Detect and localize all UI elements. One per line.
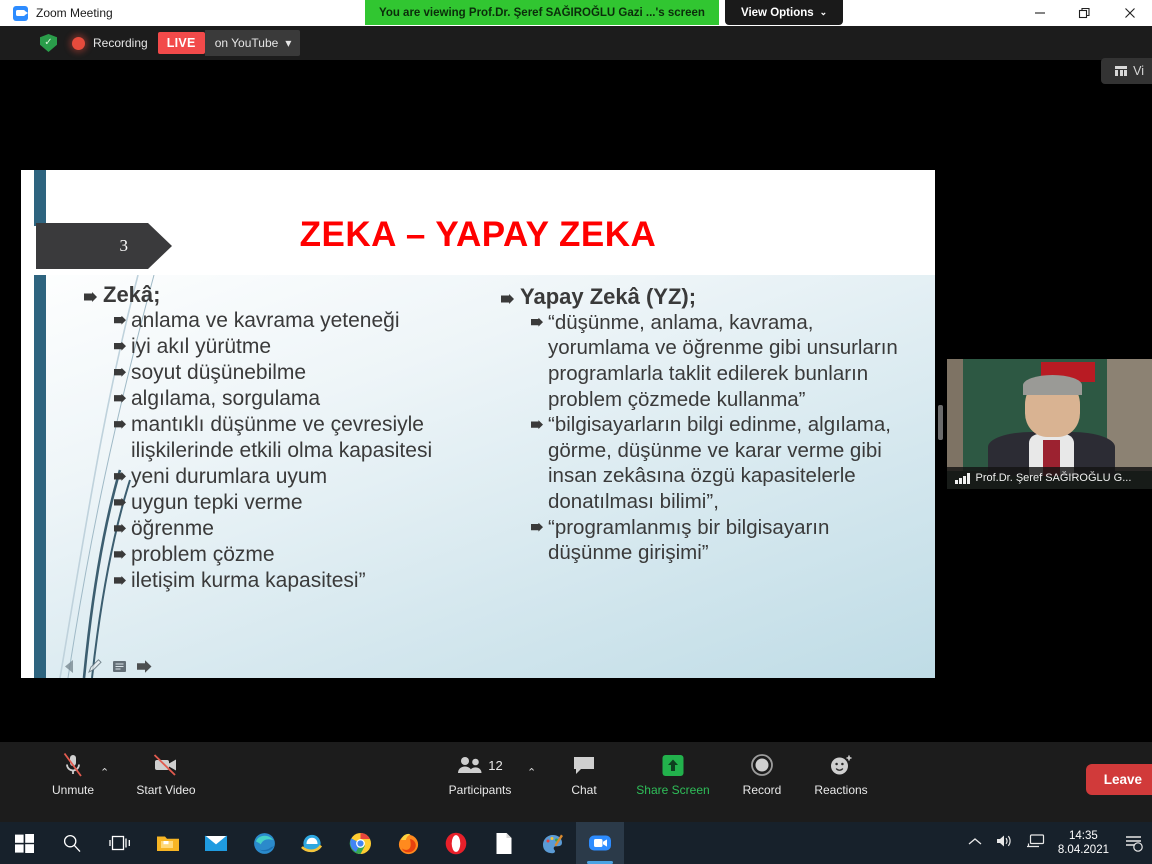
close-icon[interactable]: [1107, 0, 1152, 26]
participants-icon-group: 12: [457, 752, 502, 778]
chrome-button[interactable]: [336, 822, 384, 864]
list-item-text: “düşünme, anlama, kavrama, yorumlama ve …: [548, 310, 916, 413]
list-item: anlama ve kavrama yeteneği: [114, 308, 484, 334]
task-view-icon: [109, 834, 131, 852]
microphone-muted-icon: [61, 752, 85, 778]
recording-status-bar: ✓ Recording LIVE on YouTube ▾ Vi: [0, 26, 1152, 60]
task-view-button[interactable]: [96, 822, 144, 864]
document-icon: [495, 832, 513, 855]
participant-name: Prof.Dr. Şeref SAĞIROĞLU G...: [976, 472, 1132, 484]
slide-title: ZEKA – YAPAY ZEKA: [21, 215, 935, 255]
list-item: algılama, sorgulama: [114, 386, 484, 412]
right-column-heading: Yapay Zekâ (YZ);: [501, 285, 916, 310]
firefox-button[interactable]: [384, 822, 432, 864]
record-label: Record: [743, 783, 782, 797]
stream-platform-label: on YouTube: [215, 36, 279, 50]
chat-button[interactable]: Chat: [547, 752, 621, 797]
list-item: yeni durumlara uyum: [114, 464, 484, 490]
windows-taskbar: 14:35 8.04.2021: [0, 822, 1152, 864]
share-screen-icon: [661, 752, 685, 778]
search-icon: [62, 833, 82, 853]
slide-columns: Zekâ; anlama ve kavrama yeteneği iyi akı…: [46, 275, 935, 678]
list-item-text: öğrenme: [131, 516, 214, 542]
list-item: soyut düşünebilme: [114, 360, 484, 386]
list-item-text: iletişim kurma kapasitesi”: [131, 568, 366, 594]
arrow-bullet-icon: [114, 498, 126, 507]
slide-accent-bar-bottom: [34, 275, 46, 678]
stream-platform-dropdown[interactable]: on YouTube ▾: [205, 30, 301, 56]
list-item: problem çözme: [114, 542, 484, 568]
reactions-label: Reactions: [814, 783, 867, 797]
volume-icon[interactable]: [995, 833, 1013, 854]
next-slide-icon[interactable]: [135, 657, 153, 675]
arrow-bullet-icon: [501, 294, 514, 304]
participant-video-thumbnail[interactable]: Prof.Dr. Şeref SAĞIROĞLU G...: [947, 359, 1152, 489]
live-badge: LIVE: [158, 32, 205, 54]
participants-icon: [457, 756, 483, 774]
slide-right-column: Yapay Zekâ (YZ); “düşünme, anlama, kavra…: [501, 285, 916, 566]
list-item-text: “programlanmış bir bilgisayarın düşünme …: [548, 515, 916, 566]
document-button[interactable]: [480, 822, 528, 864]
participants-count: 12: [488, 758, 502, 773]
share-screen-button[interactable]: Share Screen: [634, 752, 712, 797]
participant-name-bar: Prof.Dr. Şeref SAĞIROĞLU G...: [947, 467, 1152, 489]
view-layout-button[interactable]: Vi: [1101, 58, 1152, 84]
arrow-bullet-icon: [114, 524, 126, 533]
unmute-label: Unmute: [52, 783, 94, 797]
clock-time: 14:35: [1058, 829, 1109, 843]
system-tray: 14:35 8.04.2021: [968, 829, 1152, 858]
zoom-app-icon: [588, 832, 612, 854]
arrow-bullet-icon: [114, 550, 126, 559]
arrow-bullet-icon: [114, 420, 126, 429]
window-controls: [1017, 0, 1152, 26]
clock-date: 8.04.2021: [1058, 843, 1109, 857]
list-item: “düşünme, anlama, kavrama, yorumlama ve …: [531, 310, 916, 413]
chevron-down-icon: ⌄: [820, 7, 828, 18]
recording-label: Recording: [93, 36, 148, 50]
list-item: iletişim kurma kapasitesi”: [114, 568, 484, 594]
network-signal-icon: [955, 473, 970, 484]
list-item: “bilgisayarların bilgi edinme, algılama,…: [531, 412, 916, 515]
zoom-camera-icon: [13, 6, 28, 21]
share-screen-label: Share Screen: [636, 783, 709, 797]
reactions-button[interactable]: Reactions: [804, 752, 878, 797]
arrow-bullet-icon: [114, 342, 126, 351]
chat-label: Chat: [571, 783, 596, 797]
participants-options-chevron-icon[interactable]: ⌃: [527, 766, 536, 779]
leave-label: Leave: [1104, 772, 1142, 787]
video-camera-off-icon: [151, 752, 181, 778]
previous-slide-icon[interactable]: [60, 657, 78, 675]
unmute-button[interactable]: Unmute: [36, 752, 110, 797]
arrow-bullet-icon: [531, 420, 543, 429]
internet-explorer-button[interactable]: [288, 822, 336, 864]
arrow-bullet-icon: [114, 316, 126, 325]
reactions-smiley-icon: [828, 752, 854, 778]
notifications-icon[interactable]: [1122, 831, 1146, 855]
view-options-label: View Options: [741, 7, 814, 19]
list-item-text: problem çözme: [131, 542, 275, 568]
arrow-bullet-icon: [114, 576, 126, 585]
arrow-bullet-icon: [114, 394, 126, 403]
arrow-bullet-icon: [114, 472, 126, 481]
show-hidden-icons-icon[interactable]: [968, 834, 982, 852]
list-item-text: mantıklı düşünme ve çevresiyle ilişkiler…: [131, 412, 484, 464]
list-item: uygun tepki verme: [114, 490, 484, 516]
list-item-text: “bilgisayarların bilgi edinme, algılama,…: [548, 412, 916, 515]
zoom-meeting-toolbar: Unmute ⌃ Start Video 12: [0, 742, 1152, 822]
window-title: Zoom Meeting: [36, 6, 113, 20]
shared-screen-slide[interactable]: 3 ZEKA – YAPAY ZEKA Zekâ; anlama ve kavr…: [21, 170, 935, 678]
list-item: iyi akıl yürütme: [114, 334, 484, 360]
arrow-bullet-icon: [531, 523, 543, 532]
paint-button[interactable]: [528, 822, 576, 864]
list-item-text: iyi akıl yürütme: [131, 334, 271, 360]
list-item: “programlanmış bir bilgisayarın düşünme …: [531, 515, 916, 566]
mail-button[interactable]: [192, 822, 240, 864]
record-circle-icon: [750, 752, 774, 778]
view-layout-label: Vi: [1133, 64, 1144, 78]
opera-button[interactable]: [432, 822, 480, 864]
list-item-text: soyut düşünebilme: [131, 360, 306, 386]
grid-view-icon: [1115, 66, 1127, 76]
left-heading-text: Zekâ;: [103, 283, 160, 308]
arrow-bullet-icon: [114, 368, 126, 377]
chevron-down-icon: ▾: [285, 36, 291, 50]
arrow-bullet-icon: [84, 292, 97, 302]
left-column-heading: Zekâ;: [84, 283, 484, 308]
record-button[interactable]: Record: [725, 752, 799, 797]
participants-label: Participants: [449, 783, 512, 797]
view-options-button[interactable]: View Options ⌄: [725, 0, 843, 25]
participants-button[interactable]: 12 Participants: [441, 752, 519, 797]
list-item: öğrenme: [114, 516, 484, 542]
paint-icon: [541, 832, 564, 855]
avatar-hair: [1023, 375, 1082, 396]
google-chrome-icon: [349, 832, 372, 855]
list-item-text: yeni durumlara uyum: [131, 464, 327, 490]
video-background-wall-left: [947, 359, 963, 471]
screen-share-banner-text: You are viewing Prof.Dr. Şeref SAĞIROĞLU…: [379, 7, 705, 19]
edge-button[interactable]: [240, 822, 288, 864]
search-button[interactable]: [48, 822, 96, 864]
file-explorer-icon: [156, 833, 180, 853]
slide-body: Zekâ; anlama ve kavrama yeteneği iyi akı…: [46, 275, 935, 678]
chat-bubble-icon: [571, 752, 597, 778]
list-item-text: anlama ve kavrama yeteneği: [131, 308, 399, 334]
microsoft-edge-icon: [253, 832, 276, 855]
zoom-taskbar-button[interactable]: [576, 822, 624, 864]
screen-share-banner: You are viewing Prof.Dr. Şeref SAĞIROĞLU…: [365, 0, 719, 25]
firefox-icon: [397, 832, 420, 855]
start-video-label: Start Video: [136, 783, 195, 797]
security-shield-icon[interactable]: ✓: [40, 34, 57, 52]
slide-navigation-controls[interactable]: [60, 657, 153, 675]
network-icon[interactable]: [1026, 833, 1045, 854]
mail-icon: [204, 834, 228, 853]
start-video-button[interactable]: Start Video: [129, 752, 203, 797]
titlebar-left-group: Zoom Meeting: [0, 6, 113, 21]
file-explorer-button[interactable]: [144, 822, 192, 864]
recording-dot-icon: [72, 37, 85, 50]
start-button[interactable]: [0, 822, 48, 864]
internet-explorer-icon: [300, 832, 324, 855]
windows-logo-icon: [15, 834, 34, 853]
leave-meeting-button[interactable]: Leave: [1086, 764, 1152, 795]
maximize-icon[interactable]: [1062, 0, 1107, 26]
video-panel-drag-handle[interactable]: [938, 405, 943, 440]
slide-notes-icon[interactable]: [110, 657, 128, 675]
list-item-text: uygun tepki verme: [131, 490, 303, 516]
opera-icon: [445, 832, 467, 855]
slide-left-column: Zekâ; anlama ve kavrama yeteneği iyi akı…: [84, 283, 484, 594]
arrow-bullet-icon: [531, 318, 543, 327]
pen-annotation-icon[interactable]: [85, 657, 103, 675]
audio-options-chevron-icon[interactable]: ⌃: [100, 766, 109, 779]
list-item-text: algılama, sorgulama: [131, 386, 320, 412]
list-item: mantıklı düşünme ve çevresiyle ilişkiler…: [114, 412, 484, 464]
taskbar-clock[interactable]: 14:35 8.04.2021: [1058, 829, 1109, 858]
minimize-icon[interactable]: [1017, 0, 1062, 26]
right-heading-text: Yapay Zekâ (YZ);: [520, 285, 696, 310]
